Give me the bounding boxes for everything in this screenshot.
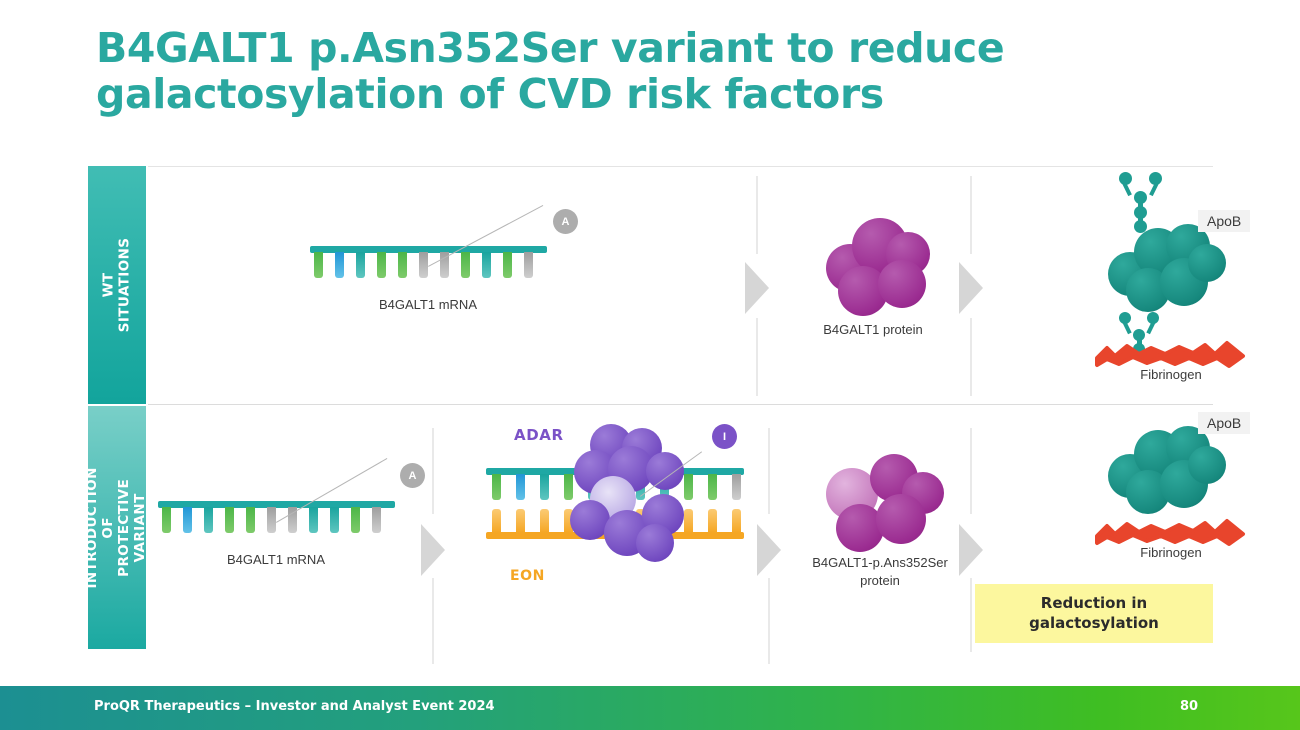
flow-arrow-icon xyxy=(745,262,769,314)
stage-divider xyxy=(970,318,972,396)
mrna-tooth xyxy=(461,252,470,278)
row-label-wt-text: WT SITUATIONS xyxy=(101,238,133,333)
adar-subunit xyxy=(646,452,684,490)
footer-bar: ProQR Therapeutics – Investor and Analys… xyxy=(0,686,1300,730)
flow-arrow-icon xyxy=(757,524,781,576)
label-apob: ApoB xyxy=(1198,412,1250,434)
flow-arrow-icon xyxy=(959,262,983,314)
caption-protein: B4GALT1 protein xyxy=(778,321,968,339)
mrna-tooth xyxy=(225,507,234,533)
stage-divider xyxy=(970,578,972,652)
caption-fibrinogen: Fibrinogen xyxy=(1071,544,1271,562)
stage-divider xyxy=(756,318,758,396)
stage-adar-editing: ADAR EON xyxy=(454,406,754,649)
inosine-marker: I xyxy=(712,424,737,449)
footer-page-number: 80 xyxy=(1180,699,1198,714)
eon-tooth xyxy=(708,509,717,533)
stage-variant-mrna: A B4GALT1 mRNA xyxy=(148,406,433,649)
eon-tooth xyxy=(492,509,501,533)
mrna-tooth xyxy=(540,474,549,500)
caption-mrna: B4GALT1 mRNA xyxy=(166,551,386,569)
glycan-bond xyxy=(1146,321,1155,334)
mrna-tooth xyxy=(482,252,491,278)
apob-subunit xyxy=(1188,446,1226,484)
row-label-variant-text: INTRODUCTION OF PROTECTIVE VARIANT xyxy=(85,467,149,588)
mrna-tooth xyxy=(246,507,255,533)
result-callout: Reduction in galactosylation xyxy=(975,584,1213,643)
mrna-tooth xyxy=(398,252,407,278)
mrna-tooth xyxy=(183,507,192,533)
mrna-tooth xyxy=(309,507,318,533)
apob-cluster xyxy=(1108,426,1228,512)
variant-protein-cluster xyxy=(818,454,948,544)
mrna-tooth xyxy=(356,252,365,278)
glycan-bond xyxy=(1122,182,1132,196)
caption-variant-protein: B4GALT1-p.Ans352Ser protein xyxy=(780,554,980,589)
eon-tooth xyxy=(732,509,741,533)
diagram-container: WT SITUATIONS A B4GALT1 mRNA xyxy=(88,166,1213,649)
mrna-tooth xyxy=(732,474,741,500)
mrna-tooth xyxy=(503,252,512,278)
stage-divider xyxy=(756,176,758,254)
stage-divider xyxy=(768,578,770,664)
adenosine-marker: A xyxy=(400,463,425,488)
footer-event-text: ProQR Therapeutics – Investor and Analys… xyxy=(94,699,495,714)
caption-fibrinogen: Fibrinogen xyxy=(1071,366,1271,384)
mrna-tooth xyxy=(330,507,339,533)
adar-enzyme-cluster xyxy=(570,424,700,564)
eon-tooth xyxy=(516,509,525,533)
row-label-protective-variant: INTRODUCTION OF PROTECTIVE VARIANT xyxy=(88,406,146,649)
mrna-strand xyxy=(310,246,547,279)
mrna-tooth xyxy=(351,507,360,533)
page-title: B4GALT1 p.Asn352Ser variant to reduce ga… xyxy=(96,26,1156,118)
stage-divider xyxy=(432,428,434,514)
adar-subunit xyxy=(636,524,674,562)
protein-subunit xyxy=(876,494,926,544)
stage-divider xyxy=(970,176,972,254)
stage-wt-mrna: A B4GALT1 mRNA xyxy=(148,166,708,404)
flow-arrow-icon xyxy=(959,524,983,576)
mrna-tooth xyxy=(372,507,381,533)
apob-cluster xyxy=(1108,224,1228,310)
stage-divider xyxy=(432,578,434,664)
caption-mrna: B4GALT1 mRNA xyxy=(318,296,538,314)
stage-wt-protein: B4GALT1 protein xyxy=(778,166,968,404)
mrna-strand xyxy=(158,501,395,534)
mrna-tooth xyxy=(708,474,717,500)
glycan-bond xyxy=(1149,182,1159,196)
glycan-bond xyxy=(1122,321,1131,334)
stage-variant-protein: B4GALT1-p.Ans352Ser protein xyxy=(788,406,973,649)
protein-cluster xyxy=(808,218,938,308)
label-apob: ApoB xyxy=(1198,210,1250,232)
mrna-tooth xyxy=(204,507,213,533)
stage-divider xyxy=(768,428,770,514)
row-divider xyxy=(148,404,1213,405)
mrna-tooth xyxy=(335,252,344,278)
protein-subunit xyxy=(878,260,926,308)
apob-subunit xyxy=(1188,244,1226,282)
eon-tooth xyxy=(540,509,549,533)
row-label-wt-situations: WT SITUATIONS xyxy=(88,166,146,404)
mrna-tooth-target xyxy=(419,252,428,278)
flow-arrow-icon xyxy=(421,524,445,576)
stage-divider xyxy=(970,428,972,514)
mrna-tooth xyxy=(524,252,533,278)
label-eon: EON xyxy=(510,568,545,584)
mrna-tooth xyxy=(492,474,501,500)
row-wt-situations: WT SITUATIONS A B4GALT1 mRNA xyxy=(88,166,1213,404)
label-adar: ADAR xyxy=(514,426,564,444)
mrna-tooth xyxy=(377,252,386,278)
stage-wt-targets: ApoB Fibrinogen xyxy=(993,166,1213,404)
adenosine-marker: A xyxy=(553,209,578,234)
mrna-tooth xyxy=(516,474,525,500)
mrna-tooth xyxy=(162,507,171,533)
mrna-tooth xyxy=(314,252,323,278)
mrna-tooth-target xyxy=(267,507,276,533)
